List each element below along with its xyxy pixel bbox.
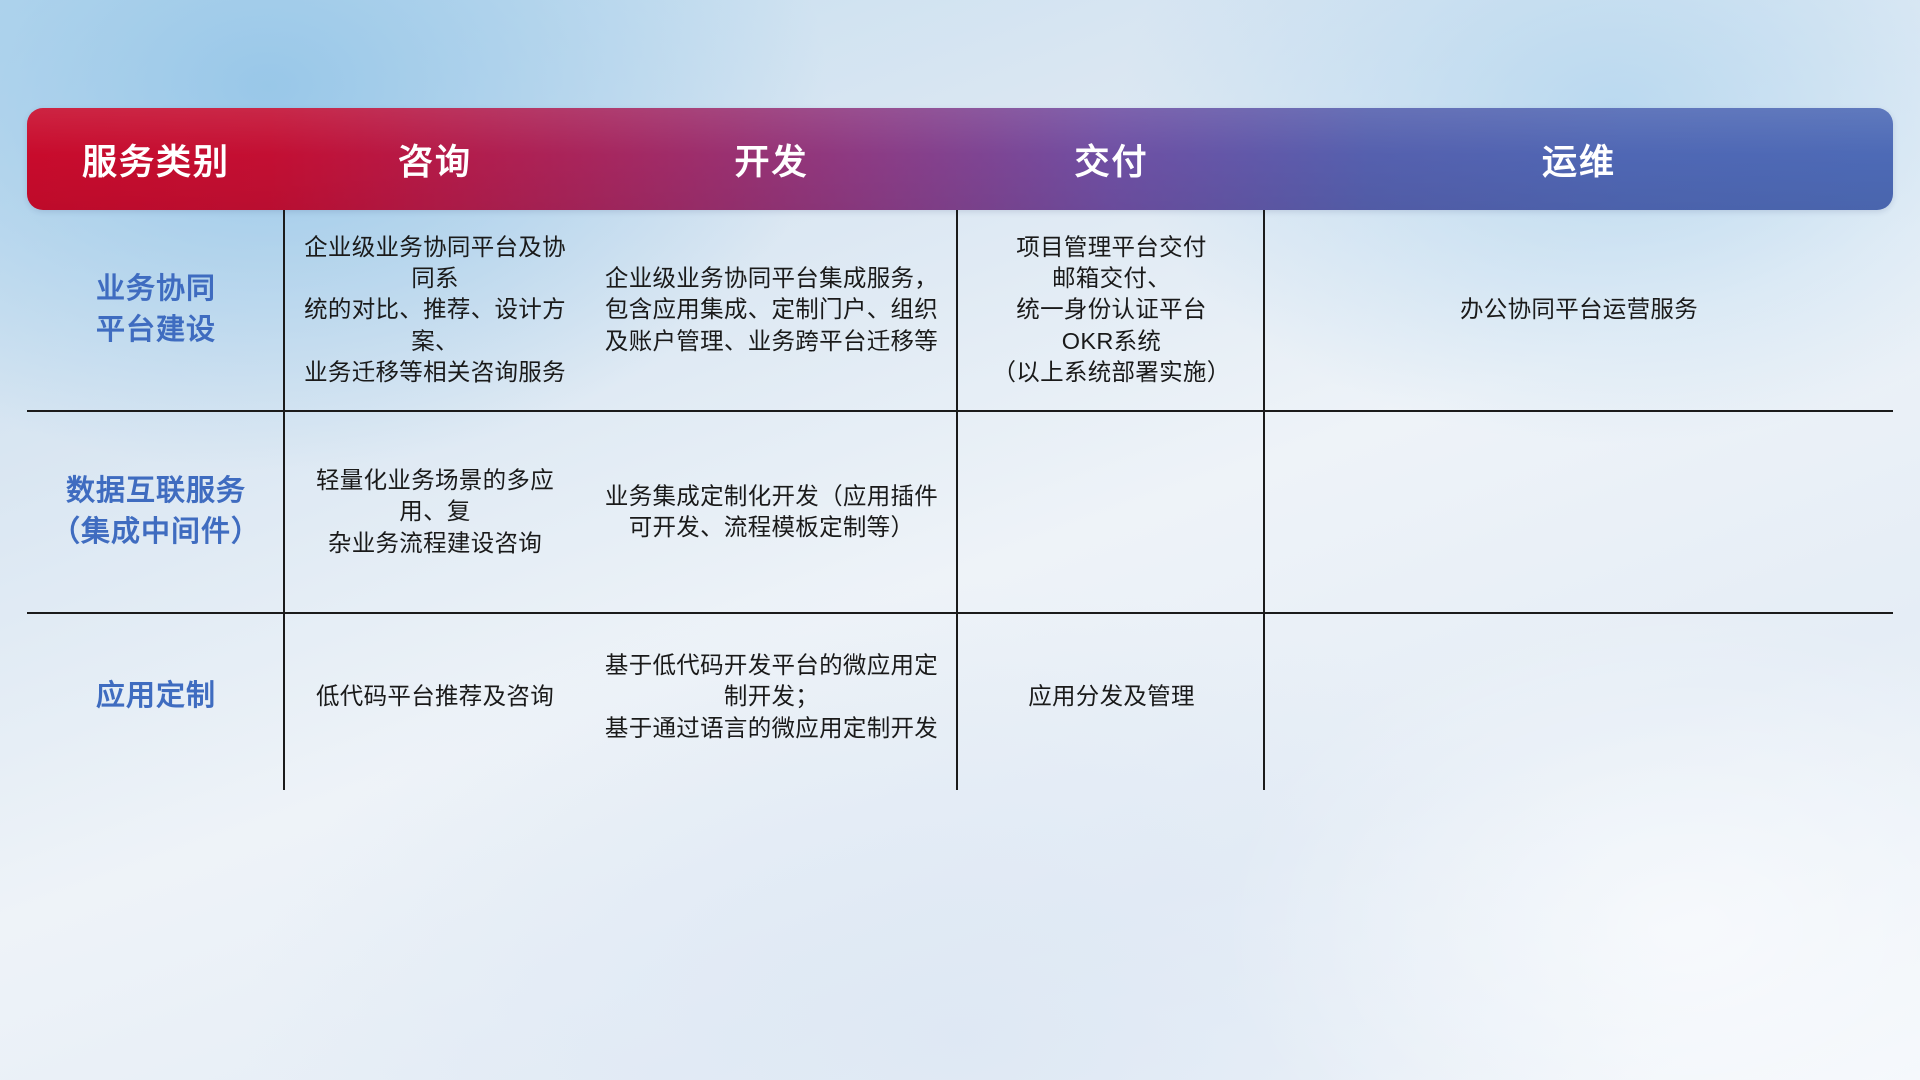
cell-development: 企业级业务协同平台集成服务， 包含应用集成、定制门户、组织 及账户管理、业务跨平… [585, 210, 958, 410]
row-category-label: 应用定制 [27, 614, 285, 780]
column-header-consulting: 咨询 [285, 134, 585, 185]
cell-consulting: 低代码平台推荐及咨询 [285, 614, 585, 780]
column-header-category: 服务类别 [27, 134, 285, 185]
column-header-operations: 运维 [1265, 134, 1893, 185]
table-row: 应用定制 低代码平台推荐及咨询 基于低代码开发平台的微应用定 制开发； 基于通过… [27, 614, 1893, 780]
cell-delivery: 应用分发及管理 [958, 614, 1265, 780]
cell-delivery: 项目管理平台交付 邮箱交付、 统一身份认证平台 OKR系统 （以上系统部署实施） [958, 210, 1265, 410]
cell-development: 业务集成定制化开发（应用插件 可开发、流程模板定制等） [585, 412, 958, 612]
cell-consulting: 企业级业务协同平台及协同系 统的对比、推荐、设计方案、 业务迁移等相关咨询服务 [285, 210, 585, 410]
table-row: 业务协同 平台建设 企业级业务协同平台及协同系 统的对比、推荐、设计方案、 业务… [27, 210, 1893, 412]
table-header-row: 服务类别 咨询 开发 交付 运维 [27, 108, 1893, 210]
table-row: 数据互联服务 （集成中间件） 轻量化业务场景的多应用、复 杂业务流程建设咨询 业… [27, 412, 1893, 614]
table-body: 业务协同 平台建设 企业级业务协同平台及协同系 统的对比、推荐、设计方案、 业务… [27, 210, 1893, 780]
cell-operations [1265, 412, 1893, 612]
column-header-delivery: 交付 [958, 134, 1265, 185]
slide-canvas: 服务类别 咨询 开发 交付 运维 业务协同 平台建设 企业级业务协同平台及协同系… [0, 0, 1920, 1080]
cell-development: 基于低代码开发平台的微应用定 制开发； 基于通过语言的微应用定制开发 [585, 614, 958, 780]
cell-consulting: 轻量化业务场景的多应用、复 杂业务流程建设咨询 [285, 412, 585, 612]
row-category-label: 业务协同 平台建设 [27, 210, 285, 410]
cell-operations: 办公协同平台运营服务 [1265, 210, 1893, 410]
cell-operations [1265, 614, 1893, 780]
service-matrix-table: 服务类别 咨询 开发 交付 运维 业务协同 平台建设 企业级业务协同平台及协同系… [27, 108, 1893, 780]
row-category-label: 数据互联服务 （集成中间件） [27, 412, 285, 612]
cell-delivery [958, 412, 1265, 612]
column-header-development: 开发 [585, 134, 958, 185]
